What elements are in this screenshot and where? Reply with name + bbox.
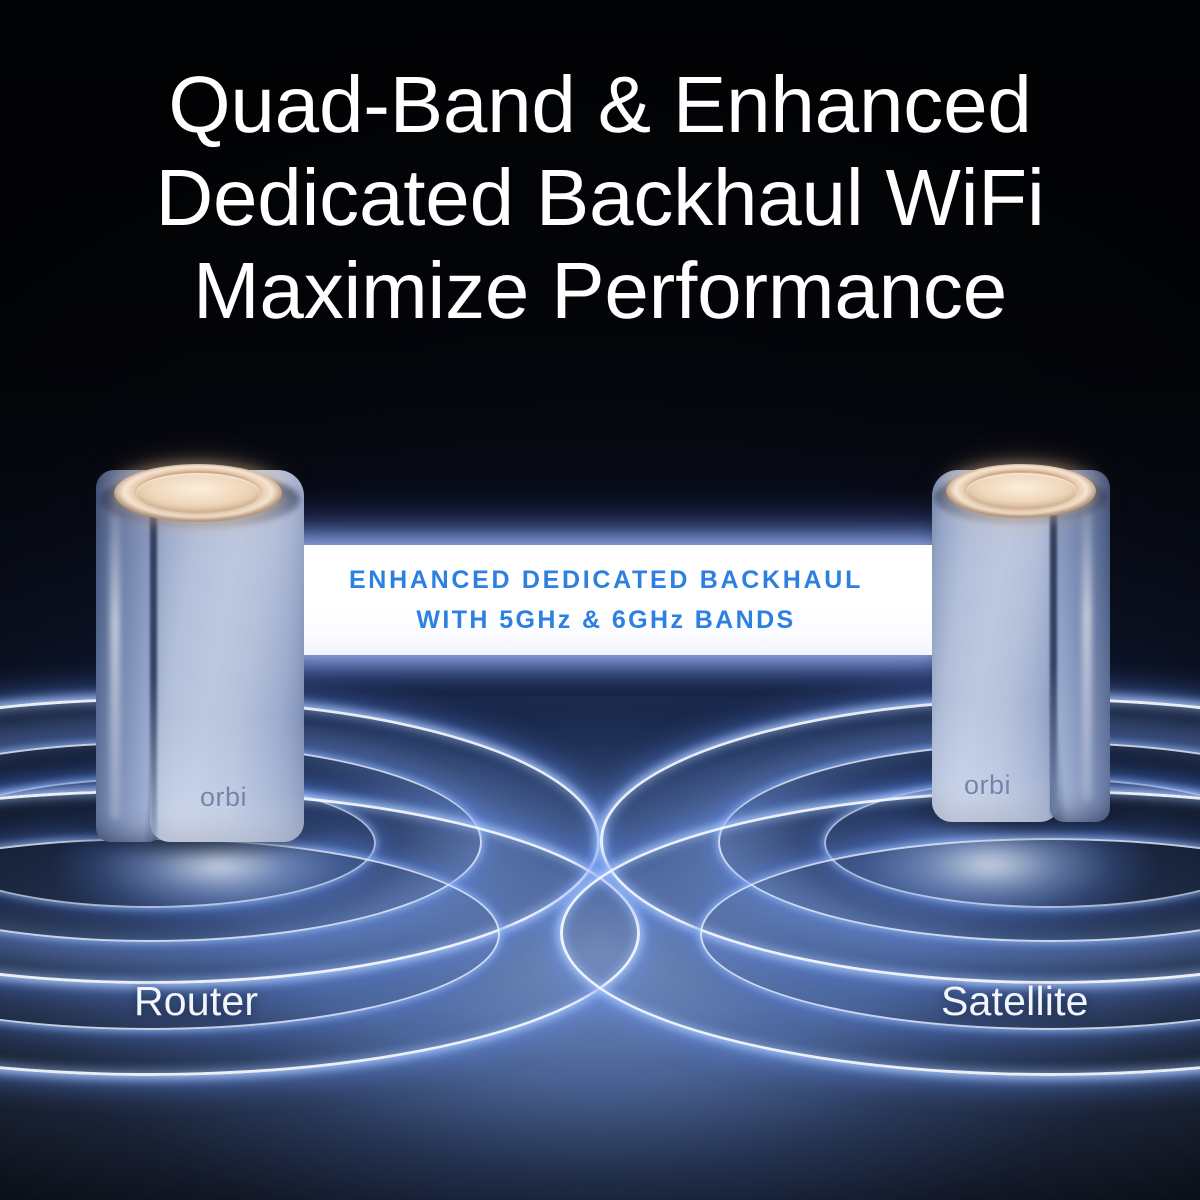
headline: Quad-Band & Enhanced Dedicated Backhaul … bbox=[0, 58, 1200, 337]
promo-graphic: ENHANCED DEDICATED BACKHAUL WITH 5GHz & … bbox=[0, 0, 1200, 1200]
headline-line-3: Maximize Performance bbox=[0, 244, 1200, 337]
router-specular-highlight bbox=[110, 492, 120, 819]
satellite-panel-seam bbox=[1050, 480, 1057, 816]
satellite-device: orbi bbox=[932, 470, 1110, 822]
banner-line-2: WITH 5GHz & 6GHz BANDS bbox=[416, 600, 795, 640]
router-device: orbi bbox=[96, 470, 304, 842]
router-orbi-logo: orbi bbox=[200, 782, 247, 813]
router-label: Router bbox=[134, 978, 258, 1025]
headline-line-2: Dedicated Backhaul WiFi bbox=[0, 151, 1200, 244]
headline-line-1: Quad-Band & Enhanced bbox=[0, 58, 1200, 151]
satellite-specular-highlight bbox=[1082, 491, 1092, 801]
banner-line-1: ENHANCED DEDICATED BACKHAUL bbox=[349, 560, 863, 600]
router-top-led-ring bbox=[114, 464, 282, 522]
backhaul-banner: ENHANCED DEDICATED BACKHAUL WITH 5GHz & … bbox=[276, 545, 936, 655]
router-panel-seam bbox=[150, 480, 157, 836]
satellite-top-led-ring bbox=[946, 464, 1096, 518]
banner-panel: ENHANCED DEDICATED BACKHAUL WITH 5GHz & … bbox=[276, 545, 936, 655]
satellite-side-panel bbox=[1050, 470, 1110, 822]
satellite-label: Satellite bbox=[941, 978, 1089, 1025]
satellite-orbi-logo: orbi bbox=[964, 770, 1011, 801]
